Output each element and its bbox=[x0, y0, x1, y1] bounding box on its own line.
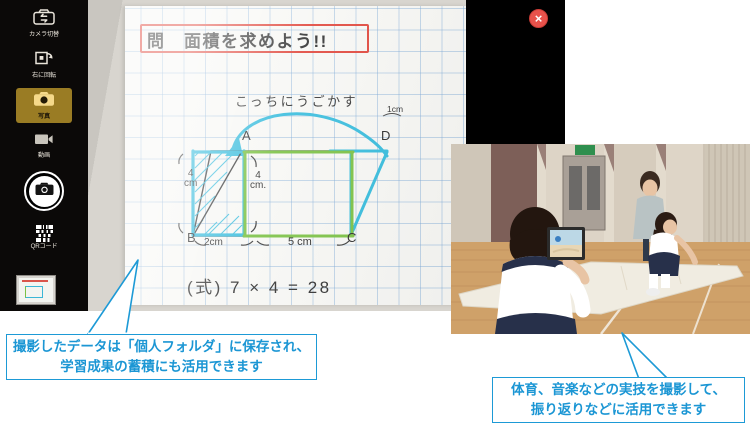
video-icon bbox=[33, 132, 55, 151]
camera-switch-icon bbox=[33, 9, 55, 30]
right-callout-pointer bbox=[600, 325, 680, 383]
vertex-label-b: B bbox=[187, 230, 196, 245]
sidebar-item-label: 動画 bbox=[38, 152, 50, 160]
label-1cm: 1cm bbox=[387, 104, 403, 114]
rotate-right-icon bbox=[34, 50, 54, 71]
screenshot-root: カメラ切替 右に回転 bbox=[0, 0, 750, 438]
vertex-label-c: C bbox=[347, 230, 356, 245]
board-diagram bbox=[125, 6, 466, 305]
sidebar-item-label: カメラ切替 bbox=[29, 31, 59, 39]
dimension-inner-height-unit: cm. bbox=[250, 181, 266, 191]
vertex-label-a: A bbox=[242, 128, 251, 143]
callout-right: 体育、音楽などの実技を撮影して、 振り返りなどに活用できます bbox=[492, 377, 745, 423]
close-icon[interactable]: × bbox=[529, 9, 548, 28]
dimension-base-right: 5 cm bbox=[288, 236, 312, 248]
sidebar-item-qr-code[interactable]: QRコード bbox=[16, 222, 72, 253]
callout-right-line1: 体育、音楽などの実技を撮影して、 bbox=[511, 380, 726, 400]
whiteboard-photo: 問 面積を求めよう!! こっちにうごかす bbox=[125, 6, 466, 305]
dimension-left-height-unit: cm bbox=[184, 179, 197, 189]
sidebar-item-label: QRコード bbox=[31, 243, 58, 251]
sidebar-item-rotate-right[interactable]: 右に回転 bbox=[16, 47, 72, 82]
shutter-button[interactable] bbox=[24, 171, 64, 211]
camera-sidebar: カメラ切替 右に回転 bbox=[0, 0, 88, 311]
thumbnail-image bbox=[19, 278, 53, 302]
board-equation: (式) 7 × 4 = 28 bbox=[187, 273, 332, 298]
close-label: × bbox=[535, 12, 543, 25]
gymnasium-photo bbox=[451, 144, 750, 334]
sidebar-item-camera-switch[interactable]: カメラ切替 bbox=[16, 6, 72, 41]
sidebar-item-label: 写真 bbox=[38, 113, 50, 121]
photo-icon bbox=[33, 91, 55, 112]
shutter-camera-icon bbox=[35, 182, 54, 201]
callout-left: 撮影したデータは「個人フォルダ」に保存され、 学習成果の蓄積にも活用できます bbox=[6, 334, 317, 380]
sidebar-item-photo[interactable]: 写真 bbox=[16, 88, 72, 123]
callout-right-line2: 振り返りなどに活用できます bbox=[531, 400, 707, 420]
dimension-base-left: 2cm bbox=[204, 237, 223, 248]
sidebar-item-label: 右に回転 bbox=[32, 72, 56, 80]
dimension-inner-height: 4 cm. bbox=[250, 171, 266, 191]
vertex-label-d: D bbox=[381, 128, 390, 143]
sidebar-item-video[interactable]: 動画 bbox=[16, 129, 72, 162]
callout-left-line2: 学習成果の蓄積にも活用できます bbox=[60, 357, 263, 377]
callout-left-line1: 撮影したデータは「個人フォルダ」に保存され、 bbox=[13, 337, 310, 357]
qr-code-icon bbox=[36, 225, 53, 242]
left-callout-pointer bbox=[88, 255, 168, 340]
last-photo-thumbnail[interactable] bbox=[16, 275, 56, 305]
shutter-inner bbox=[29, 176, 60, 207]
dimension-left-height: 4 cm bbox=[184, 169, 197, 189]
